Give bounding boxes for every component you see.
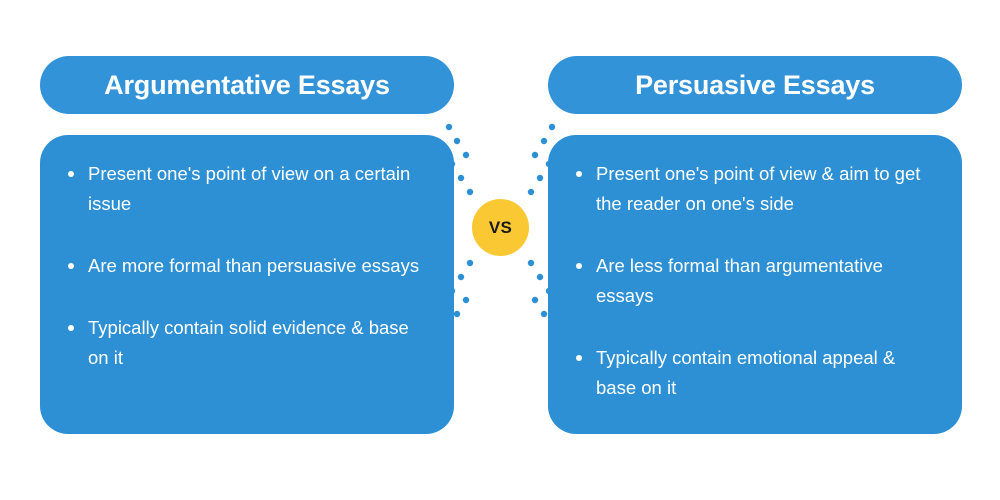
comparison-column-persuasive: Persuasive Essays Present one's point of… bbox=[548, 56, 962, 434]
comparison-infographic: Argumentative Essays Present one's point… bbox=[0, 0, 1000, 500]
list-item-text: Are more formal than persuasive essays bbox=[88, 255, 419, 276]
bullet-dot-icon bbox=[576, 355, 582, 361]
list-item-text: Present one's point of view & aim to get… bbox=[596, 163, 920, 214]
list-item-text: Typically contain emotional appeal & bas… bbox=[596, 347, 895, 398]
list-item: Typically contain solid evidence & base … bbox=[62, 313, 432, 373]
column-title: Argumentative Essays bbox=[104, 70, 390, 101]
bullet-list: Present one's point of view on a certain… bbox=[62, 159, 432, 373]
bullet-dot-icon bbox=[576, 171, 582, 177]
bullet-dot-icon bbox=[68, 263, 74, 269]
comparison-column-argumentative: Argumentative Essays Present one's point… bbox=[40, 56, 454, 434]
column-body-persuasive: Present one's point of view & aim to get… bbox=[548, 135, 962, 434]
bullet-dot-icon bbox=[576, 263, 582, 269]
bullet-dot-icon bbox=[68, 325, 74, 331]
list-item: Typically contain emotional appeal & bas… bbox=[570, 343, 940, 403]
bullet-dot-icon bbox=[68, 171, 74, 177]
column-title: Persuasive Essays bbox=[635, 70, 875, 101]
list-item-text: Typically contain solid evidence & base … bbox=[88, 317, 409, 368]
column-body-argumentative: Present one's point of view on a certain… bbox=[40, 135, 454, 434]
list-item: Are less formal than argumentative essay… bbox=[570, 251, 940, 311]
column-header-persuasive: Persuasive Essays bbox=[548, 56, 962, 114]
column-header-argumentative: Argumentative Essays bbox=[40, 56, 454, 114]
list-item-text: Present one's point of view on a certain… bbox=[88, 163, 410, 214]
bullet-list: Present one's point of view & aim to get… bbox=[570, 159, 940, 403]
versus-label: VS bbox=[489, 218, 512, 238]
list-item-text: Are less formal than argumentative essay… bbox=[596, 255, 883, 306]
versus-badge: VS bbox=[472, 199, 529, 256]
list-item: Present one's point of view & aim to get… bbox=[570, 159, 940, 219]
list-item: Present one's point of view on a certain… bbox=[62, 159, 432, 219]
list-item: Are more formal than persuasive essays bbox=[62, 251, 432, 281]
